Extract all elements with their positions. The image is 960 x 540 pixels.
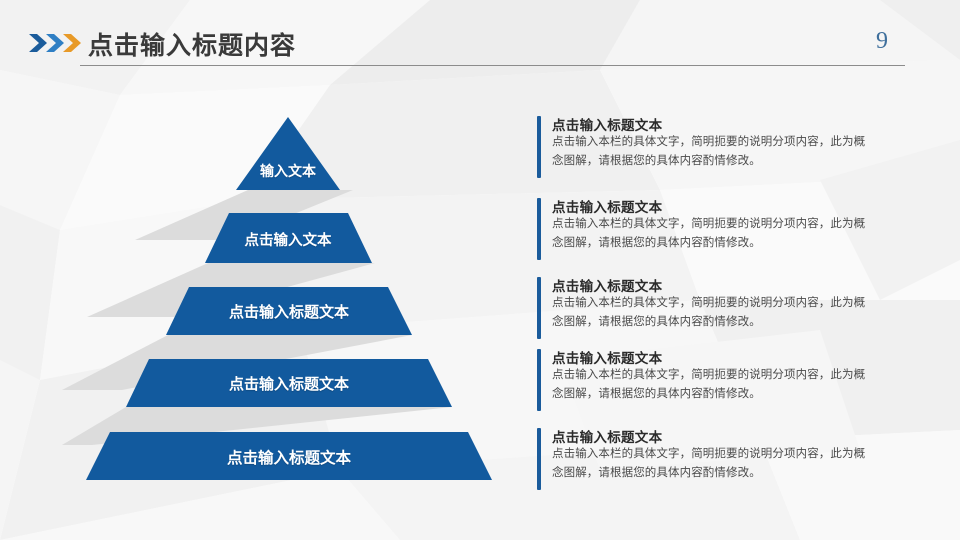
accent-bar: [537, 198, 541, 260]
description-list: 点击输入标题文本 点击输入本栏的具体文字，简明扼要的说明分项内容，此为概念图解，…: [530, 100, 930, 500]
block-title: 点击输入标题文本: [552, 275, 662, 295]
block-title: 点击输入标题文本: [552, 426, 662, 446]
pyramid-level-2[interactable]: [205, 213, 372, 263]
block-body: 点击输入本栏的具体文字，简明扼要的说明分项内容，此为概念图解，请根据您的具体内容…: [552, 215, 870, 253]
page-title: 点击输入标题内容: [88, 26, 296, 62]
block-title: 点击输入标题文本: [552, 347, 662, 367]
block-body: 点击输入本栏的具体文字，简明扼要的说明分项内容，此为概念图解，请根据您的具体内容…: [552, 366, 870, 404]
accent-bar: [537, 277, 541, 339]
pyramid-level-4[interactable]: [126, 359, 452, 407]
pyramid-level-5[interactable]: [86, 432, 492, 480]
chevron-2-blue: [46, 34, 64, 52]
block-body: 点击输入本栏的具体文字，简明扼要的说明分项内容，此为概念图解，请根据您的具体内容…: [552, 445, 870, 483]
block-title: 点击输入标题文本: [552, 114, 662, 134]
accent-bar: [537, 116, 541, 178]
pyramid-level-1[interactable]: [236, 117, 340, 190]
block-title: 点击输入标题文本: [552, 196, 662, 216]
slide-header: 点击输入标题内容 9: [0, 0, 960, 80]
accent-bar: [537, 349, 541, 411]
pyramid-level-3[interactable]: [166, 287, 412, 335]
pyramid-svg: [60, 95, 520, 495]
pyramid-diagram: 输入文本 点击输入文本 点击输入标题文本 点击输入标题文本 点击输入标题文本: [60, 95, 520, 495]
slide-canvas: 点击输入标题内容 9: [0, 0, 960, 540]
block-body: 点击输入本栏的具体文字，简明扼要的说明分项内容，此为概念图解，请根据您的具体内容…: [552, 133, 870, 171]
chevron-3-orange: [63, 34, 81, 52]
page-number: 9: [862, 28, 902, 55]
chevron-triple-icon: [28, 31, 82, 55]
chevron-1-dark-blue: [29, 34, 47, 52]
accent-bar: [537, 428, 541, 490]
block-body: 点击输入本栏的具体文字，简明扼要的说明分项内容，此为概念图解，请根据您的具体内容…: [552, 294, 870, 332]
header-divider: [80, 65, 905, 66]
